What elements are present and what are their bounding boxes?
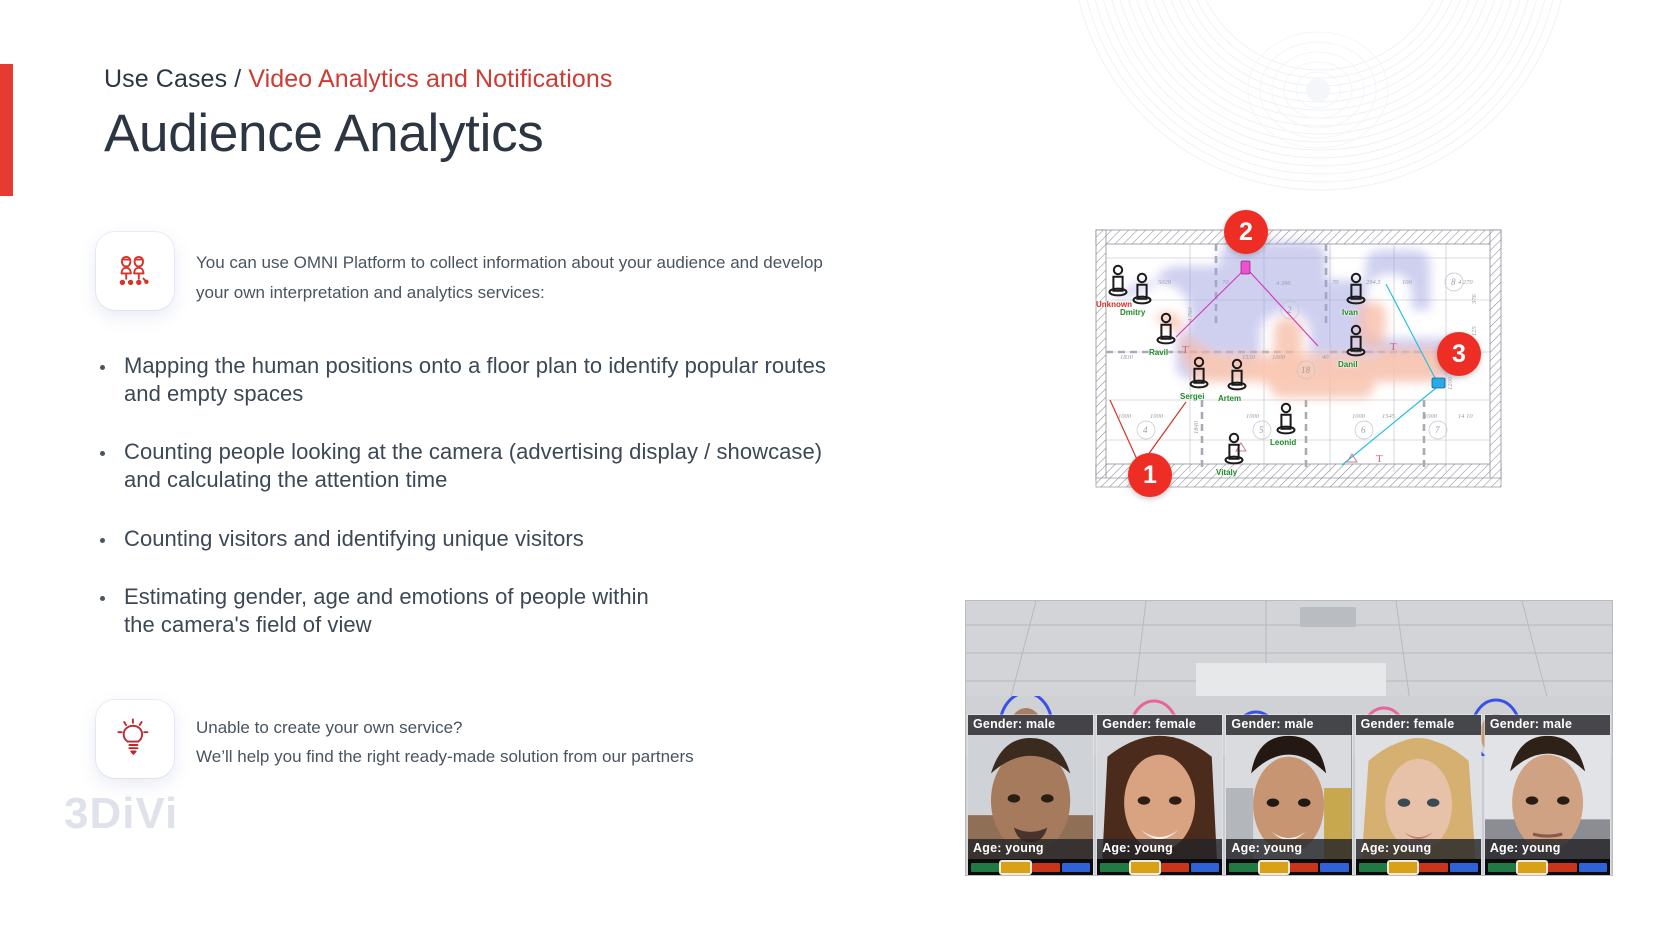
intro-line-1: You can use OMNI Platform to collect inf…	[196, 248, 823, 278]
svg-text:294.5: 294.5	[1366, 279, 1381, 286]
gender-label: Gender: female	[1356, 715, 1481, 735]
map-marker-3[interactable]: 3	[1437, 332, 1481, 376]
svg-text:T: T	[1390, 341, 1397, 353]
svg-text:1000: 1000	[1118, 413, 1132, 420]
list-item: Counting people looking at the camera (a…	[100, 438, 996, 494]
age-label: Age: young	[968, 839, 1093, 859]
svg-text:1000: 1000	[1424, 413, 1438, 420]
face-panel-row: Gender: male Age: young Gender: female A…	[966, 601, 1612, 875]
person-label: Sergei	[1180, 392, 1204, 401]
emotion-bar-blue	[1320, 863, 1348, 872]
lightbulb-icon	[112, 716, 158, 762]
emotion-bar-red	[1032, 863, 1060, 872]
svg-text:1200: 1200	[1447, 376, 1454, 390]
face-panel[interactable]: Gender: female Age: young	[1356, 715, 1481, 875]
callout-text: Unable to create your own service? We’ll…	[196, 700, 694, 771]
svg-text:1545: 1545	[1382, 413, 1396, 420]
list-item: Mapping the human positions onto a floor…	[100, 352, 996, 408]
svg-text:1840: 1840	[1193, 420, 1200, 434]
age-label: Age: young	[1226, 839, 1351, 859]
svg-text:100: 100	[1402, 279, 1413, 286]
person-label: Danil	[1338, 360, 1358, 369]
map-marker-1[interactable]: 1	[1128, 453, 1172, 497]
bullet-dot-icon	[100, 538, 105, 543]
left-accent-bar	[0, 64, 13, 196]
intro-note: You can use OMNI Platform to collect inf…	[96, 232, 996, 310]
emotion-bar-yellow	[1131, 862, 1159, 873]
breadcrumb-separator: /	[234, 65, 241, 93]
breadcrumb-current: Video Analytics and Notifications	[248, 65, 612, 93]
list-item: Estimating gender, age and emotions of p…	[100, 583, 996, 639]
face-analytics-image: Gender: male Age: young Gender: female A…	[966, 601, 1612, 875]
gender-label: Gender: male	[968, 715, 1093, 735]
age-label: Age: young	[1097, 839, 1222, 859]
emotion-bar-blue	[1062, 863, 1090, 872]
bullet-dot-icon	[100, 365, 105, 370]
page-title: Audience Analytics	[104, 106, 612, 162]
bullet-line-1: Mapping the human positions onto a floor…	[124, 352, 826, 380]
bullet-line-2: and empty spaces	[124, 380, 826, 408]
face-panel[interactable]: Gender: male Age: young	[1485, 715, 1610, 875]
two-people-icon	[112, 248, 158, 294]
face-panel[interactable]: Gender: male Age: young	[1226, 715, 1351, 875]
person-label: Leonid	[1270, 438, 1296, 447]
intro-text: You can use OMNI Platform to collect inf…	[196, 232, 823, 308]
age-label: Age: young	[1356, 839, 1481, 859]
intro-icon-tile	[96, 232, 174, 310]
svg-text:70: 70	[1332, 279, 1339, 286]
emotion-bar-green	[1100, 863, 1128, 872]
svg-text:1000: 1000	[1150, 413, 1164, 420]
content-column: You can use OMNI Platform to collect inf…	[96, 232, 996, 669]
map-marker-2[interactable]: 2	[1224, 210, 1268, 254]
face-panel[interactable]: Gender: female Age: young	[1097, 715, 1222, 875]
svg-text:1000: 1000	[1272, 354, 1286, 361]
face-panel[interactable]: Gender: male Age: young	[968, 715, 1093, 875]
svg-text:1530: 1530	[1242, 354, 1256, 361]
company-logo: 3DiVi	[64, 789, 178, 839]
svg-text:14 10: 14 10	[1458, 413, 1473, 420]
gender-label: Gender: male	[1226, 715, 1351, 735]
svg-text:4 396: 4 396	[1276, 280, 1291, 287]
svg-text:4 270: 4 270	[1458, 279, 1473, 286]
svg-text:8: 8	[1451, 277, 1456, 287]
svg-text:1830: 1830	[1120, 354, 1134, 361]
emotion-bar-red	[1548, 863, 1576, 872]
svg-text:18: 18	[1301, 365, 1311, 375]
partners-callout: Unable to create your own service? We’ll…	[96, 700, 694, 778]
emotion-bars	[1485, 859, 1610, 875]
bullet-line-2: the camera's field of view	[124, 611, 649, 639]
svg-text:6: 6	[1361, 425, 1366, 435]
breadcrumb: Use Cases / Video Analytics and Notifica…	[104, 66, 612, 94]
callout-line-1: Unable to create your own service?	[196, 713, 694, 742]
bullet-line-1: Counting visitors and identifying unique…	[124, 525, 584, 553]
gender-label: Gender: male	[1485, 715, 1610, 735]
breadcrumb-root[interactable]: Use Cases	[104, 65, 227, 93]
svg-text:7: 7	[1435, 425, 1440, 435]
svg-text:T: T	[1376, 453, 1383, 465]
svg-text:1000: 1000	[1352, 413, 1366, 420]
bullet-line-1: Estimating gender, age and emotions of p…	[124, 583, 649, 611]
svg-text:T: T	[1182, 344, 1189, 356]
emotion-bars	[1226, 859, 1351, 875]
emotion-bar-green	[971, 863, 999, 872]
person-label: Ravil	[1149, 348, 1168, 357]
svg-text:4: 4	[1143, 425, 1148, 435]
emotion-bar-yellow	[1518, 862, 1546, 873]
svg-text:5: 5	[1259, 425, 1264, 435]
gender-label: Gender: female	[1097, 715, 1222, 735]
contour-watermark-decoration	[1000, 0, 1640, 230]
person-label: Artem	[1218, 394, 1241, 403]
bullet-dot-icon	[100, 596, 105, 601]
svg-text:125: 125	[1471, 326, 1478, 337]
emotion-bar-blue	[1450, 863, 1478, 872]
emotion-bars	[968, 859, 1093, 875]
emotion-bar-blue	[1579, 863, 1607, 872]
emotion-bars	[1356, 859, 1481, 875]
slide-header: Use Cases / Video Analytics and Notifica…	[104, 66, 612, 161]
emotion-bar-yellow	[1001, 862, 1029, 873]
person-label: Vitaly	[1216, 468, 1237, 477]
feature-bullet-list: Mapping the human positions onto a floor…	[100, 352, 996, 639]
emotion-bars	[1097, 859, 1222, 875]
floor-plan-heatmap-image: 8 2 18 4 5 6 7 5029 70 4 396 70 294.5 10…	[1094, 222, 1503, 490]
callout-icon-tile	[96, 700, 174, 778]
emotion-bar-blue	[1191, 863, 1219, 872]
emotion-bar-green	[1229, 863, 1257, 872]
person-label: Ivan	[1342, 308, 1358, 317]
emotion-bar-yellow	[1260, 862, 1288, 873]
emotion-bar-red	[1161, 863, 1189, 872]
svg-text:5029: 5029	[1158, 279, 1172, 286]
emotion-bar-green	[1359, 863, 1387, 872]
emotion-bar-red	[1290, 863, 1318, 872]
bullet-dot-icon	[100, 451, 105, 456]
list-item: Counting visitors and identifying unique…	[100, 525, 996, 553]
callout-line-2: We’ll help you find the right ready-made…	[196, 742, 694, 771]
emotion-bar-red	[1419, 863, 1447, 872]
intro-line-2: your own interpretation and analytics se…	[196, 278, 823, 308]
age-label: Age: young	[1485, 839, 1610, 859]
svg-text:376: 376	[1471, 294, 1478, 306]
bullet-line-1: Counting people looking at the camera (a…	[124, 438, 822, 466]
emotion-bar-green	[1488, 863, 1516, 872]
emotion-bar-yellow	[1389, 862, 1417, 873]
person-label: Dmitry	[1120, 308, 1145, 317]
svg-text:1000: 1000	[1246, 413, 1260, 420]
svg-text:40: 40	[1322, 354, 1329, 361]
bullet-line-2: and calculating the attention time	[124, 466, 822, 494]
